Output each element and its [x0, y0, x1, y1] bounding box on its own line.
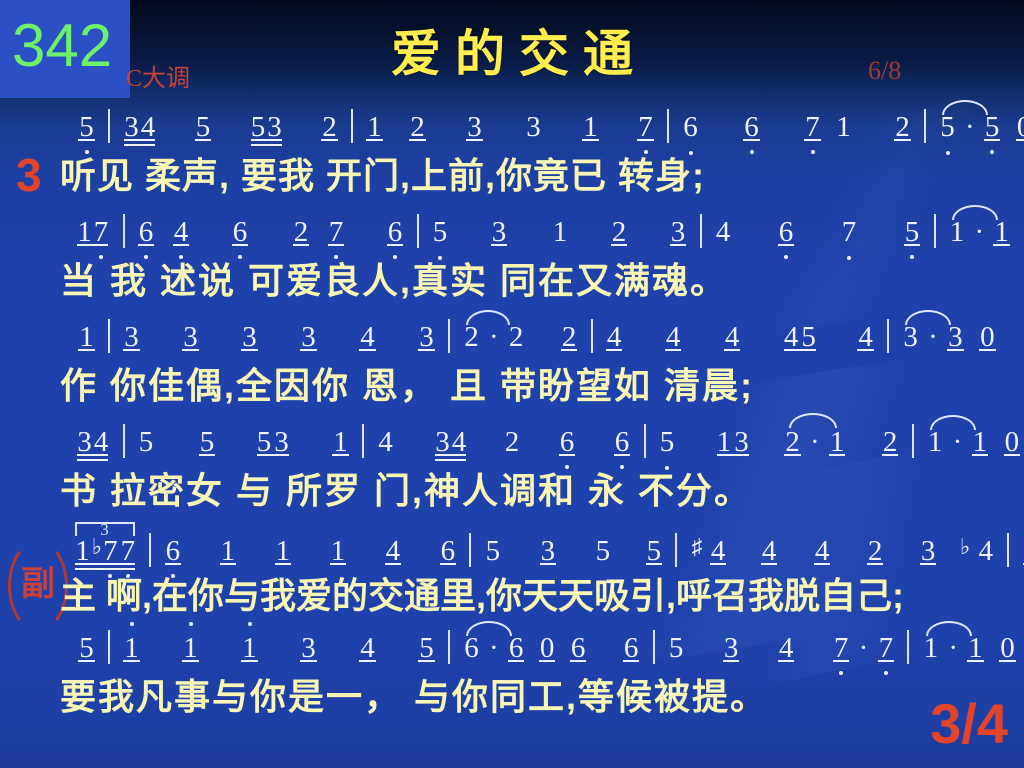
note: 4	[666, 314, 681, 360]
note: 5	[139, 419, 154, 465]
note: 4	[607, 314, 622, 360]
note: 3	[526, 104, 541, 150]
note: 7	[879, 625, 894, 671]
note-group: 34	[435, 419, 466, 465]
note: 3	[124, 314, 139, 360]
rest: 0	[540, 625, 555, 671]
note: 5	[196, 104, 211, 150]
music-system-6: 5 1 1 1 3 4 5 6 · 6 0 6 6 5	[60, 625, 1010, 725]
barline	[469, 533, 471, 567]
note: 6	[779, 209, 794, 255]
lyrics-row-6: 要我凡事与你是一， 与你同工,等候被提。	[60, 671, 1010, 725]
note: 6	[509, 625, 524, 671]
tie-arc	[905, 310, 951, 325]
triplet-group: 3 1♭77	[75, 524, 135, 574]
note: 6	[139, 209, 154, 255]
note: 4	[378, 419, 393, 465]
note: 2	[895, 104, 910, 150]
music-system-1: 5 34 5 53 2 1 2 3 3 1 7 6 6 7	[60, 104, 1010, 204]
note: 1	[221, 528, 236, 574]
note: 4	[762, 528, 777, 574]
note: 2	[322, 104, 337, 150]
tie-arc	[466, 310, 510, 325]
note: 4	[815, 528, 830, 574]
rest: 0	[1017, 104, 1024, 150]
notation-row-1: 5 34 5 53 2 1 2 3 3 1 7 6 6 7	[60, 104, 1010, 150]
note: 4	[174, 209, 189, 255]
note: 1	[183, 625, 198, 671]
note: 4	[360, 314, 375, 360]
note: 5	[596, 528, 611, 574]
barline	[591, 319, 593, 353]
notation-row-5: 3 1♭77 6 1 1 1 4 6 5 3 5 5 ♯ 4	[60, 524, 1010, 570]
barline	[448, 630, 450, 664]
note: 7	[329, 209, 344, 255]
music-system-4: 34 5 5 53 1 4 34 2 6 6 5 13	[60, 419, 1010, 519]
verse-number: 3	[16, 148, 42, 202]
barline	[907, 630, 909, 664]
notation-row-4: 34 5 5 53 1 4 34 2 6 6 5 13	[60, 419, 1010, 465]
note: 5	[660, 419, 675, 465]
note: 6	[744, 104, 759, 150]
note: 3	[541, 528, 556, 574]
note: 2	[294, 209, 309, 255]
note: 3	[301, 314, 316, 360]
note: 2	[505, 419, 520, 465]
note: 1	[994, 209, 1009, 255]
note: 5	[647, 528, 662, 574]
note: 3	[903, 314, 918, 360]
note-group: 17	[77, 209, 108, 255]
barline	[667, 109, 669, 143]
note: 5	[79, 625, 94, 671]
note: 1	[924, 625, 939, 671]
note: 1	[836, 104, 851, 150]
rest: 0	[1005, 419, 1020, 465]
note: 6	[464, 625, 479, 671]
barline	[108, 109, 110, 143]
note: 3	[921, 528, 936, 574]
barline	[700, 214, 702, 248]
note: 4	[711, 528, 726, 574]
note: 1	[583, 104, 598, 150]
note: 2	[509, 314, 524, 360]
barline	[108, 319, 110, 353]
note: 1	[333, 419, 348, 465]
note: 1	[367, 104, 382, 150]
note: 6	[683, 104, 698, 150]
note: 1	[553, 209, 568, 255]
note: 6	[571, 625, 586, 671]
note: 6	[624, 625, 639, 671]
barline	[644, 424, 646, 458]
barline	[123, 424, 125, 458]
note: 5	[433, 209, 448, 255]
note: 3	[467, 104, 482, 150]
note: 3	[183, 314, 198, 360]
rest: 0	[1000, 625, 1015, 671]
sharp-icon: ♯	[692, 534, 704, 559]
rest: 0	[980, 314, 995, 360]
barline	[653, 630, 655, 664]
note: 1	[242, 625, 257, 671]
notation-row-2: 17 6 4 6 2 7 6 5 3 1 2 3 4 6	[60, 209, 1010, 255]
barline	[912, 424, 914, 458]
barline	[448, 319, 450, 353]
tie-arc	[952, 205, 998, 220]
note: 5	[940, 104, 955, 150]
barline	[417, 214, 419, 248]
barline	[149, 533, 151, 567]
barline	[351, 109, 353, 143]
barline	[108, 630, 110, 664]
note: 4	[858, 314, 873, 360]
note-group: 13	[717, 419, 749, 465]
notation-row-6: 5 1 1 1 3 4 5 6 · 6 0 6 6 5	[60, 625, 1010, 671]
note-group: 45	[784, 314, 816, 360]
note: 3	[242, 314, 257, 360]
note: 7	[805, 104, 820, 150]
music-system-2: 17 6 4 6 2 7 6 5 3 1 2 3 4 6	[60, 209, 1010, 309]
note: 6	[388, 209, 403, 255]
music-system-5: 3 1♭77 6 1 1 1 4 6 5 3 5 5 ♯ 4	[60, 524, 1010, 624]
note: 3	[671, 209, 686, 255]
chorus-paren-icon	[8, 540, 68, 632]
note: 5	[905, 209, 920, 255]
note: 1	[830, 419, 845, 465]
note: 4	[386, 528, 401, 574]
note: 1	[968, 625, 983, 671]
notation-row-3: 1 3 3 3 3 4 3 2 · 2 2 4 4 4	[60, 314, 1010, 360]
note-group: 34	[77, 419, 108, 465]
note: 7	[834, 625, 849, 671]
flat-icon: ♭	[960, 534, 971, 559]
barline	[675, 533, 677, 567]
note: 1	[276, 528, 291, 574]
lyrics-row-5: 主 啊,在你与我爱的交通里,你天天吸引,呼召我脱自己;	[60, 570, 1010, 624]
note: 4	[725, 314, 740, 360]
note: 3	[419, 314, 434, 360]
note-group: 34	[124, 104, 155, 150]
note: 5	[985, 104, 1000, 150]
barline	[934, 214, 936, 248]
note: 3	[948, 314, 963, 360]
note: 2	[464, 314, 479, 360]
note: 6	[441, 528, 456, 574]
note: 4	[779, 625, 794, 671]
note: 2	[883, 419, 898, 465]
note: 6	[166, 528, 181, 574]
note: 6	[615, 419, 630, 465]
note: 7	[842, 209, 857, 255]
barline	[123, 214, 125, 248]
note: 4	[360, 625, 375, 671]
lyrics-row-4: 书 拉密女 与 所罗 门,神人调和 永 不分。	[60, 465, 1010, 519]
note-group: 53	[257, 419, 289, 465]
barline	[362, 424, 364, 458]
note: 3	[301, 625, 316, 671]
note: 5	[79, 104, 94, 150]
note: 1	[928, 419, 943, 465]
note: 2	[612, 209, 627, 255]
tie-arc	[942, 100, 988, 115]
barline	[887, 319, 889, 353]
note: 5	[419, 625, 434, 671]
note: 4	[716, 209, 731, 255]
note: 1	[973, 419, 988, 465]
lyrics-row-3: 作 你佳偶,全因你 恩， 且 带盼望如 清晨;	[60, 360, 1010, 414]
barline	[1007, 533, 1009, 567]
note-group: 53	[251, 104, 282, 150]
note: 4	[979, 528, 994, 574]
note: 5	[486, 528, 501, 574]
note: 3	[492, 209, 507, 255]
lyrics-row-2: 当 我 述说 可爱良人,真实 同在又满魂。	[60, 255, 1010, 309]
note: 2	[562, 314, 577, 360]
note: 2	[868, 528, 883, 574]
note: 5	[200, 419, 215, 465]
note: 2	[785, 419, 800, 465]
lyrics-row-1: 听见 柔声, 要我 开门,上前,你竟已 转身;	[60, 150, 1010, 204]
tie-arc	[930, 415, 976, 430]
augmentation-dot: ·	[856, 625, 872, 671]
barline	[924, 109, 926, 143]
note: 5	[669, 625, 684, 671]
note: 2	[410, 104, 425, 150]
note: 1	[331, 528, 346, 574]
note: 6	[560, 419, 575, 465]
music-system-3: 1 3 3 3 3 4 3 2 · 2 2 4 4 4	[60, 314, 1010, 414]
chorus-label-wrap: 副	[10, 556, 66, 614]
slide-canvas: 342 C大调 爱的交通 6/8 3 副 3/4 5 34 5 53 2 1 2…	[0, 0, 1024, 768]
note: 3	[724, 625, 739, 671]
note: 1	[79, 314, 94, 360]
note: 6	[233, 209, 248, 255]
time-signature: 6/8	[868, 56, 901, 86]
note: 1	[950, 209, 965, 255]
note: 1	[124, 625, 139, 671]
note: 7	[638, 104, 653, 150]
